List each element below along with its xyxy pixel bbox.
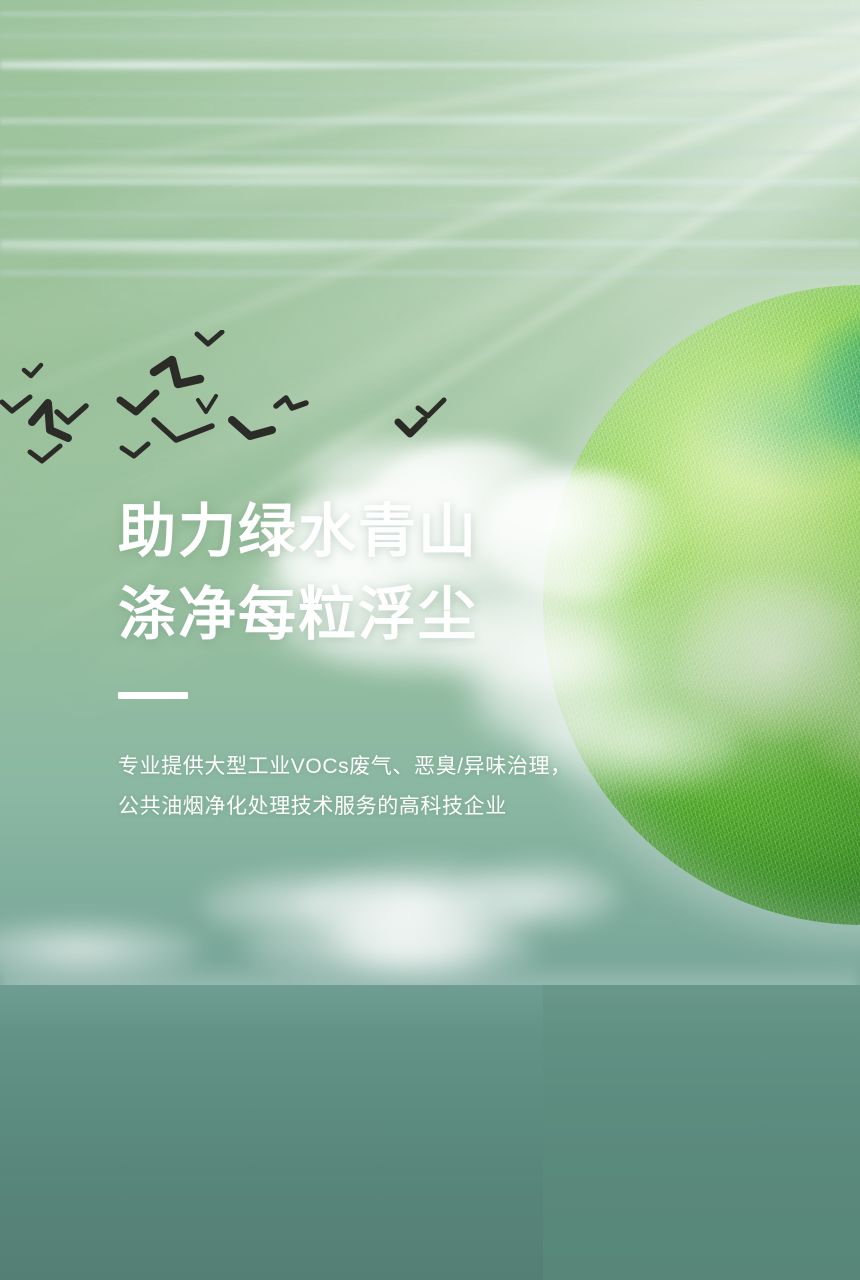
banner-stage: 助力绿水青山 涤净每粒浮尘 专业提供大型工业VOCs废气、恶臭/异味治理， 公共…	[0, 0, 860, 1280]
water-surface	[0, 985, 860, 1280]
hero-copy: 助力绿水青山 涤净每粒浮尘 专业提供大型工业VOCs废气、恶臭/异味治理， 公共…	[118, 490, 678, 827]
headline-line-1: 助力绿水青山	[118, 490, 678, 573]
subcopy-line-1: 专业提供大型工业VOCs废气、恶臭/异味治理，	[118, 747, 678, 787]
subcopy-line-2: 公共油烟净化处理技术服务的高科技企业	[118, 787, 678, 827]
flying-birds-flock	[0, 330, 470, 470]
subcopy-block: 专业提供大型工业VOCs废气、恶臭/异味治理， 公共油烟净化处理技术服务的高科技…	[118, 747, 678, 827]
headline-divider	[118, 692, 188, 699]
headline-line-2: 涤净每粒浮尘	[118, 573, 678, 656]
water-ripple-bands	[0, 0, 860, 295]
